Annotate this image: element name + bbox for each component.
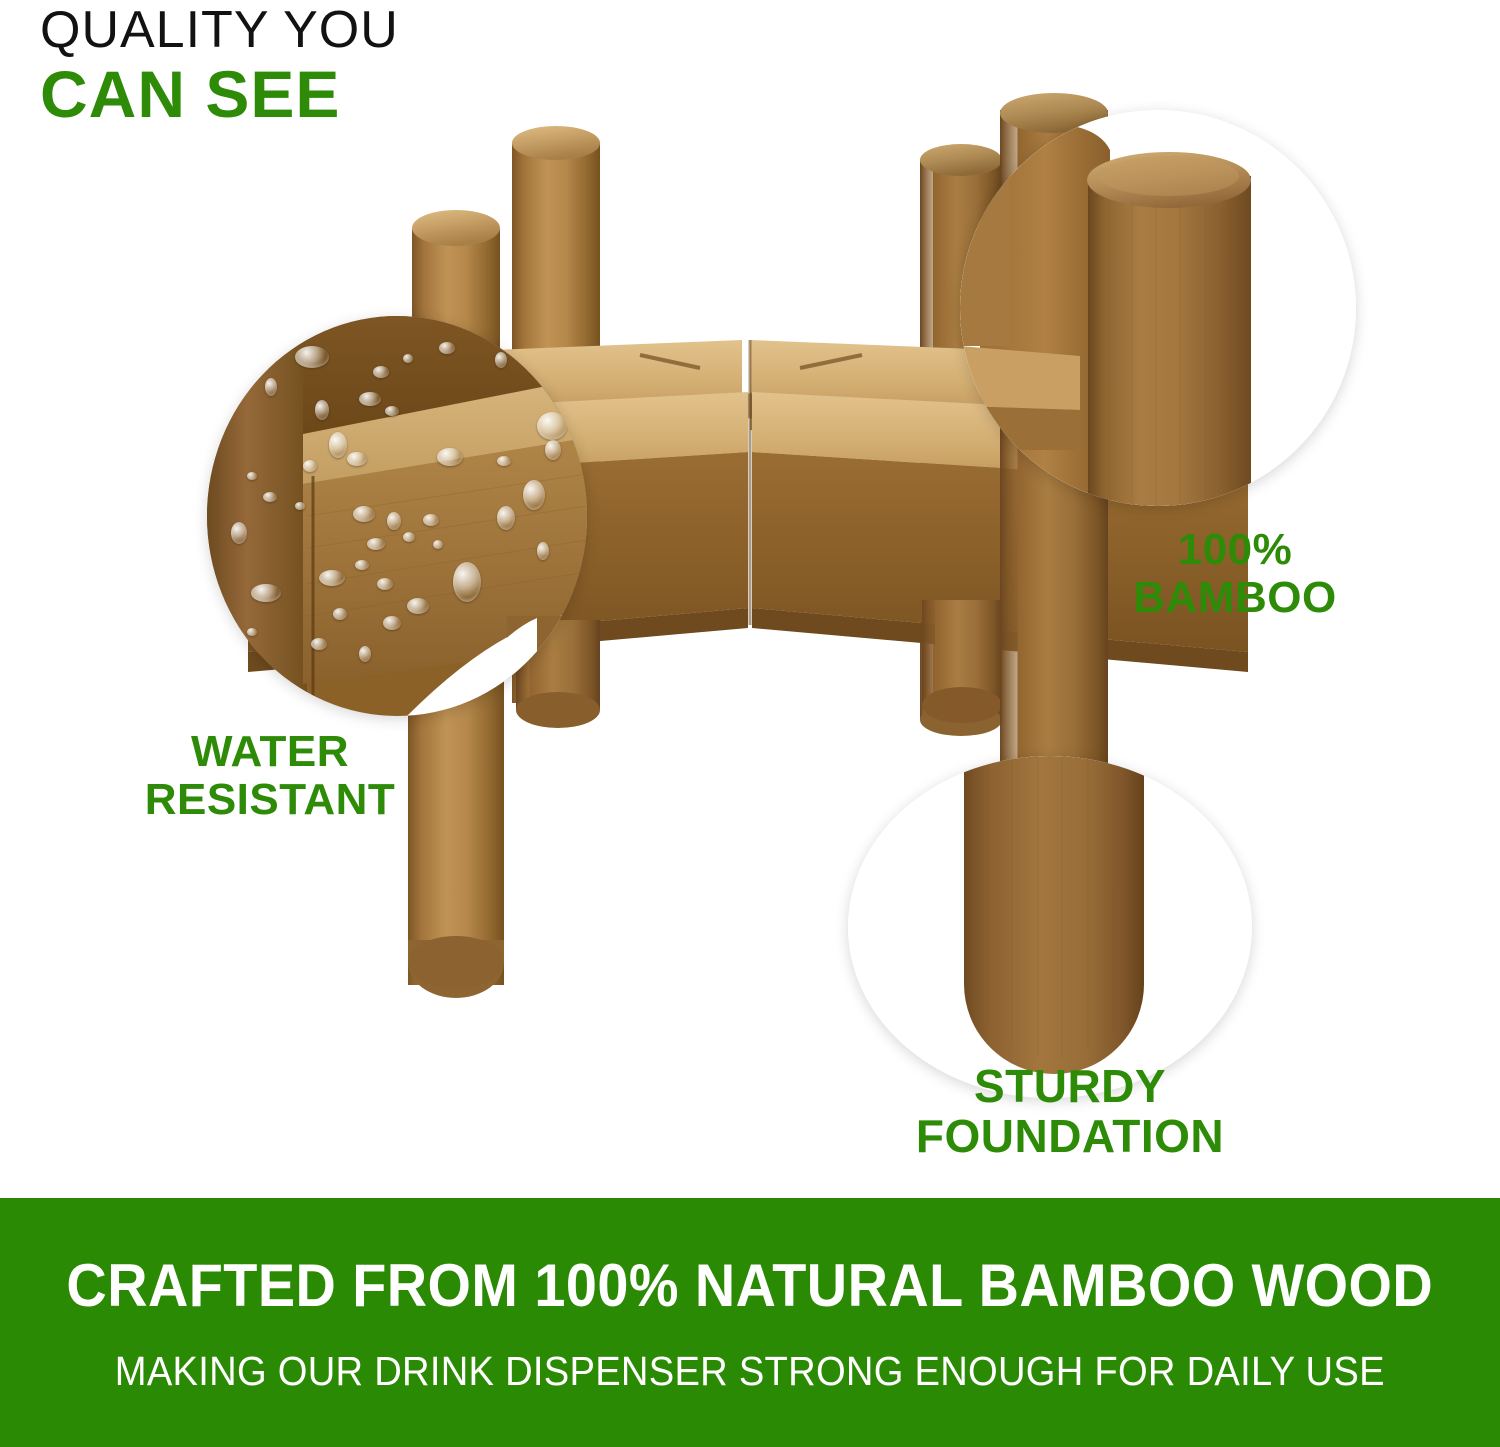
water-droplet	[407, 598, 429, 614]
infographic-stage: QUALITY YOU CAN SEE	[0, 0, 1500, 1447]
water-droplet	[329, 432, 347, 458]
callout-bamboo-line-1: 100%	[1085, 526, 1385, 574]
water-droplet	[437, 448, 463, 466]
water-droplet	[373, 366, 389, 378]
water-droplet	[263, 492, 277, 502]
banner-subline: MAKING OUR DRINK DISPENSER STRONG ENOUGH…	[115, 1348, 1385, 1395]
water-droplet	[383, 616, 401, 630]
water-droplet	[249, 360, 265, 372]
water-droplet	[545, 440, 561, 460]
callout-water-resistant: WATER RESISTANT	[100, 728, 440, 823]
callout-sturdy-foundation-line-2: FOUNDATION	[880, 1112, 1260, 1162]
water-droplet	[247, 472, 257, 480]
water-droplet	[537, 412, 567, 440]
water-droplet	[367, 538, 385, 550]
water-droplet	[311, 638, 327, 650]
water-droplet	[359, 392, 381, 406]
magnifier-water-content	[207, 316, 587, 716]
magnifier-circle-water	[207, 316, 587, 716]
water-droplet	[355, 560, 369, 570]
callout-water-resistant-line-1: WATER	[100, 728, 440, 776]
water-droplet	[453, 562, 481, 602]
banner-headline: CRAFTED FROM 100% NATURAL BAMBOO WOOD	[67, 1251, 1434, 1320]
water-droplet	[303, 460, 317, 472]
bottom-banner: CRAFTED FROM 100% NATURAL BAMBOO WOOD MA…	[0, 1198, 1500, 1447]
water-droplet	[387, 512, 401, 530]
callout-bamboo-line-2: BAMBOO	[1085, 574, 1385, 622]
water-droplet	[295, 346, 329, 368]
water-droplet	[497, 456, 511, 466]
water-droplet	[377, 578, 393, 590]
water-droplet	[359, 646, 371, 662]
magnifier-foundation-content	[848, 756, 1252, 1098]
water-droplet	[333, 608, 347, 620]
water-droplet	[247, 628, 257, 636]
magnifier-bamboo-content	[960, 110, 1356, 506]
water-droplet	[423, 514, 439, 526]
magnifier-circle-bamboo	[960, 110, 1356, 506]
water-droplet	[353, 506, 375, 522]
water-droplet	[251, 584, 281, 602]
water-droplet	[439, 342, 455, 354]
water-droplet	[319, 570, 345, 586]
product-illustration: WATER RESISTANT 100% BAMBOO STURDY FOUND…	[0, 0, 1500, 1198]
callout-sturdy-foundation: STURDY FOUNDATION	[880, 1062, 1260, 1161]
leg-front-right-stub	[922, 600, 1002, 723]
water-droplet	[347, 452, 367, 466]
water-droplet	[433, 540, 443, 549]
water-droplet	[403, 354, 413, 363]
water-droplet	[495, 352, 507, 368]
water-droplet	[265, 378, 277, 396]
water-droplet	[403, 532, 415, 542]
magnifier-circle-foundation	[848, 756, 1252, 1098]
water-droplet	[295, 502, 305, 510]
callout-bamboo: 100% BAMBOO	[1085, 526, 1385, 621]
water-droplet	[315, 400, 329, 420]
callout-sturdy-foundation-line-1: STURDY	[880, 1062, 1260, 1112]
water-droplet	[385, 406, 399, 416]
water-droplet	[523, 480, 545, 510]
water-droplet	[497, 506, 515, 530]
water-droplet	[231, 522, 247, 544]
callout-water-resistant-line-2: RESISTANT	[100, 776, 440, 824]
water-droplet	[537, 542, 549, 560]
